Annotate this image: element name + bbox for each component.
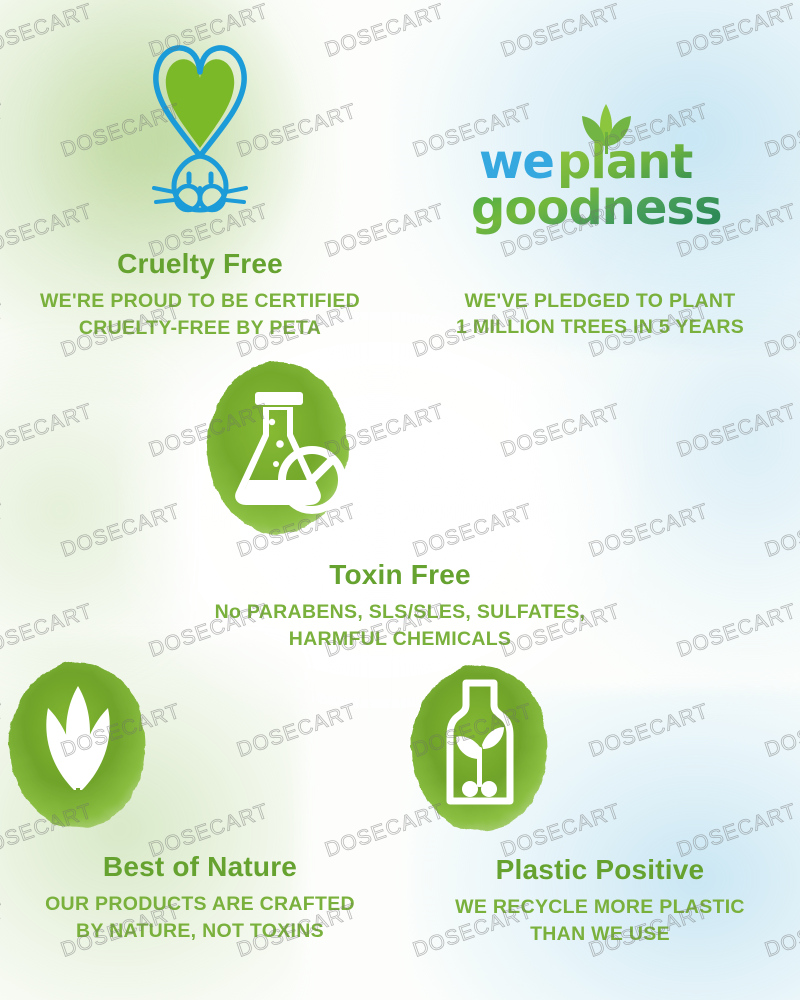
watermark-text: DOSECART: [674, 0, 800, 63]
watermark-text: DOSECART: [498, 0, 624, 63]
badge-title-plastic-positive: Plastic Positive: [400, 855, 800, 884]
badge-line: OUR PRODUCTS ARE CRAFTED: [0, 891, 400, 917]
badge-line: CRUELTY-FREE BY PETA: [0, 315, 400, 341]
badge-description-best-of-nature: OUR PRODUCTS ARE CRAFTED BY NATURE, NOT …: [0, 891, 400, 944]
leaves-icon: [0, 652, 400, 838]
badge-best-of-nature: Best of Nature OUR PRODUCTS ARE CRAFTED …: [0, 652, 400, 944]
badge-title-best-of-nature: Best of Nature: [0, 852, 400, 881]
no-flask-icon: [200, 352, 600, 544]
watermark-text: DOSECART: [0, 499, 8, 562]
badge-cruelty-free: Cruelty Free WE'RE PROUD TO BE CERTIFIED…: [0, 30, 400, 341]
badge-description-cruelty-free: WE'RE PROUD TO BE CERTIFIED CRUELTY-FREE…: [0, 288, 400, 341]
badge-title-cruelty-free: Cruelty Free: [0, 249, 400, 278]
badge-title-toxin-free: Toxin Free: [200, 560, 600, 589]
background-wash-green-mid-left: [0, 330, 180, 690]
badge-line: WE'VE PLEDGED TO PLANT: [400, 288, 800, 314]
badge-line: BY NATURE, NOT TOXINS: [0, 918, 400, 944]
badge-line: THAN WE USE: [400, 921, 800, 947]
badge-line: WE RECYCLE MORE PLASTIC: [400, 894, 800, 920]
badge-description-plastic-positive: WE RECYCLE MORE PLASTIC THAN WE USE: [400, 894, 800, 947]
watermark-text: DOSECART: [0, 399, 96, 462]
svg-text:goodness: goodness: [471, 180, 722, 235]
badge-line: 1 MILLION TREES IN 5 YEARS: [400, 314, 800, 340]
badge-we-plant-goodness: we plant goodness WE'VE PLEDGED TO PLANT…: [400, 100, 800, 341]
badge-toxin-free: Toxin Free No PARABENS, SLS/SLES, SULFAT…: [200, 352, 600, 652]
watermark-text: DOSECART: [586, 499, 712, 562]
watermark-text: DOSECART: [674, 399, 800, 462]
badge-line: No PARABENS, SLS/SLES, SULFATES,: [200, 599, 600, 625]
bottle-sprout-icon: [400, 655, 800, 841]
badge-description-we-plant-goodness: WE'VE PLEDGED TO PLANT 1 MILLION TREES I…: [400, 288, 800, 341]
badge-plastic-positive: Plastic Positive WE RECYCLE MORE PLASTIC…: [400, 655, 800, 947]
badge-description-toxin-free: No PARABENS, SLS/SLES, SULFATES, HARMFUL…: [200, 599, 600, 652]
badge-line: HARMFUL CHEMICALS: [200, 626, 600, 652]
we-plant-goodness-logo: we plant goodness: [400, 100, 800, 240]
watermark-text: DOSECART: [58, 499, 184, 562]
bunny-heart-icon: [0, 30, 400, 235]
badge-line: WE'RE PROUD TO BE CERTIFIED: [0, 288, 400, 314]
watermark-text: DOSECART: [762, 499, 800, 562]
watermark-text: DOSECART: [674, 599, 800, 662]
infographic-canvas: Cruelty Free WE'RE PROUD TO BE CERTIFIED…: [0, 0, 800, 1000]
